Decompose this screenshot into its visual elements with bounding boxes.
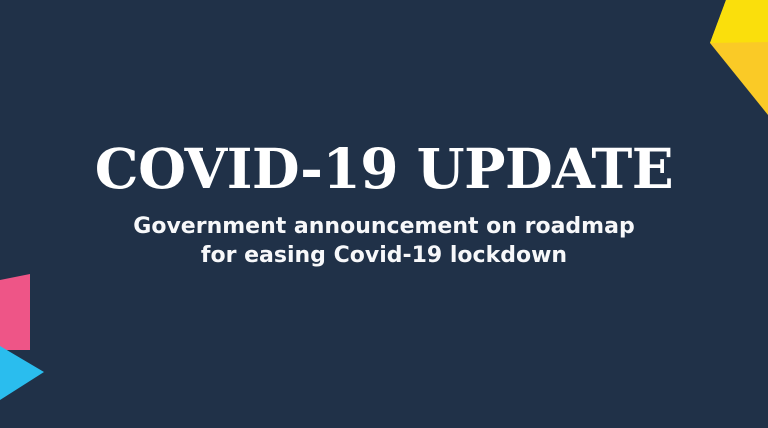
chevron-body-polygon [710,0,768,115]
slide-subtitle: Government announcement on roadmap for e… [40,212,728,271]
pink-bar-shape [0,274,30,350]
page-title: COVID-19 UPDATE [40,140,728,198]
slide-text-block: COVID-19 UPDATE Government announcement … [0,140,768,271]
yellow-chevron-highlight-shape [648,0,768,125]
slide-subtitle-line-2: for easing Covid-19 lockdown [40,241,728,270]
slide-canvas: COVID-19 UPDATE Government announcement … [0,0,768,428]
chevron-highlight-polygon [710,0,768,43]
cyan-triangle-polygon [0,346,44,400]
cyan-triangle-shape [0,344,48,400]
yellow-chevron-body-shape [648,0,768,125]
slide-subtitle-line-1: Government announcement on roadmap [40,212,728,241]
pink-bar-polygon [0,274,30,350]
